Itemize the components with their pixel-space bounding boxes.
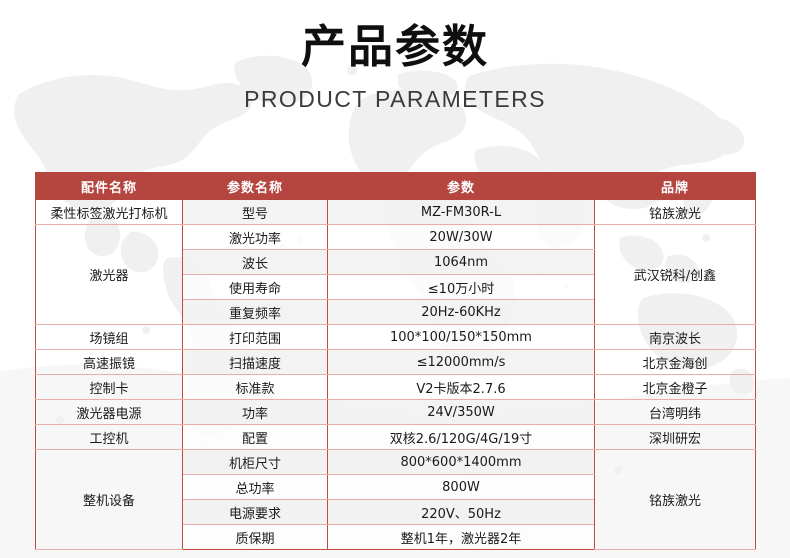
cell-brand: 铭族激光: [595, 450, 756, 550]
cell-param-value: 220V、50Hz: [328, 500, 595, 525]
cell-param-name: 功率: [183, 400, 328, 425]
page-title: 产品参数: [0, 21, 790, 73]
column-header-brand: 品牌: [595, 173, 756, 200]
column-header-param-name: 参数名称: [183, 173, 328, 200]
product-parameters-table: 配件名称 参数名称 参数 品牌 柔性标签激光打标机型号MZ-FM30R-L铭族激…: [35, 172, 756, 550]
column-header-part: 配件名称: [36, 173, 183, 200]
table-header: 配件名称 参数名称 参数 品牌: [36, 173, 756, 200]
cell-brand: 深圳研宏: [595, 425, 756, 450]
table-row: 整机设备机柜尺寸800*600*1400mm铭族激光: [36, 450, 756, 475]
column-header-param-value: 参数: [328, 173, 595, 200]
cell-param-name: 总功率: [183, 475, 328, 500]
table-row: 柔性标签激光打标机型号MZ-FM30R-L铭族激光: [36, 200, 756, 225]
cell-brand: 北京金橙子: [595, 375, 756, 400]
cell-part-name: 场镜组: [36, 325, 183, 350]
cell-param-name: 激光功率: [183, 225, 328, 250]
cell-param-name: 扫描速度: [183, 350, 328, 375]
cell-param-value: 24V/350W: [328, 400, 595, 425]
table-row: 工控机配置双核2.6/120G/4G/19寸深圳研宏: [36, 425, 756, 450]
cell-part-name: 激光器电源: [36, 400, 183, 425]
cell-param-value: 100*100/150*150mm: [328, 325, 595, 350]
cell-param-value: 20W/30W: [328, 225, 595, 250]
table-body: 柔性标签激光打标机型号MZ-FM30R-L铭族激光激光器激光功率20W/30W武…: [36, 200, 756, 550]
cell-param-name: 标准款: [183, 375, 328, 400]
cell-param-value: ≤12000mm/s: [328, 350, 595, 375]
cell-part-name: 控制卡: [36, 375, 183, 400]
cell-part-name: 激光器: [36, 225, 183, 325]
cell-brand: 北京金海创: [595, 350, 756, 375]
cell-param-name: 机柜尺寸: [183, 450, 328, 475]
spec-table-container: 配件名称 参数名称 参数 品牌 柔性标签激光打标机型号MZ-FM30R-L铭族激…: [35, 172, 755, 550]
cell-param-name: 电源要求: [183, 500, 328, 525]
table-row: 场镜组打印范围100*100/150*150mm南京波长: [36, 325, 756, 350]
cell-part-name: 工控机: [36, 425, 183, 450]
cell-param-value: 20Hz-60KHz: [328, 300, 595, 325]
cell-param-name: 打印范围: [183, 325, 328, 350]
table-row: 激光器电源功率24V/350W台湾明纬: [36, 400, 756, 425]
cell-brand: 台湾明纬: [595, 400, 756, 425]
cell-brand: 铭族激光: [595, 200, 756, 225]
table-header-row: 配件名称 参数名称 参数 品牌: [36, 173, 756, 200]
cell-part-name: 柔性标签激光打标机: [36, 200, 183, 225]
page-subtitle: PRODUCT PARAMETERS: [0, 86, 790, 113]
cell-param-value: 800W: [328, 475, 595, 500]
cell-param-name: 重复频率: [183, 300, 328, 325]
cell-param-name: 配置: [183, 425, 328, 450]
cell-param-value: 整机1年，激光器2年: [328, 525, 595, 550]
cell-param-value: ≤10万小时: [328, 275, 595, 300]
cell-part-name: 高速振镜: [36, 350, 183, 375]
cell-param-value: 1064nm: [328, 250, 595, 275]
cell-param-name: 波长: [183, 250, 328, 275]
table-row: 激光器激光功率20W/30W武汉锐科/创鑫: [36, 225, 756, 250]
cell-param-value: 800*600*1400mm: [328, 450, 595, 475]
page-header: 产品参数 PRODUCT PARAMETERS: [0, 0, 790, 113]
cell-param-name: 型号: [183, 200, 328, 225]
cell-brand: 南京波长: [595, 325, 756, 350]
cell-param-value: 双核2.6/120G/4G/19寸: [328, 425, 595, 450]
cell-param-name: 使用寿命: [183, 275, 328, 300]
cell-param-value: MZ-FM30R-L: [328, 200, 595, 225]
cell-brand: 武汉锐科/创鑫: [595, 225, 756, 325]
cell-param-value: V2卡版本2.7.6: [328, 375, 595, 400]
cell-param-name: 质保期: [183, 525, 328, 550]
product-parameters-page: 产品参数 PRODUCT PARAMETERS 配件名称 参数名称 参数 品牌 …: [0, 0, 790, 558]
table-row: 高速振镜扫描速度≤12000mm/s北京金海创: [36, 350, 756, 375]
cell-part-name: 整机设备: [36, 450, 183, 550]
table-row: 控制卡标准款V2卡版本2.7.6北京金橙子: [36, 375, 756, 400]
